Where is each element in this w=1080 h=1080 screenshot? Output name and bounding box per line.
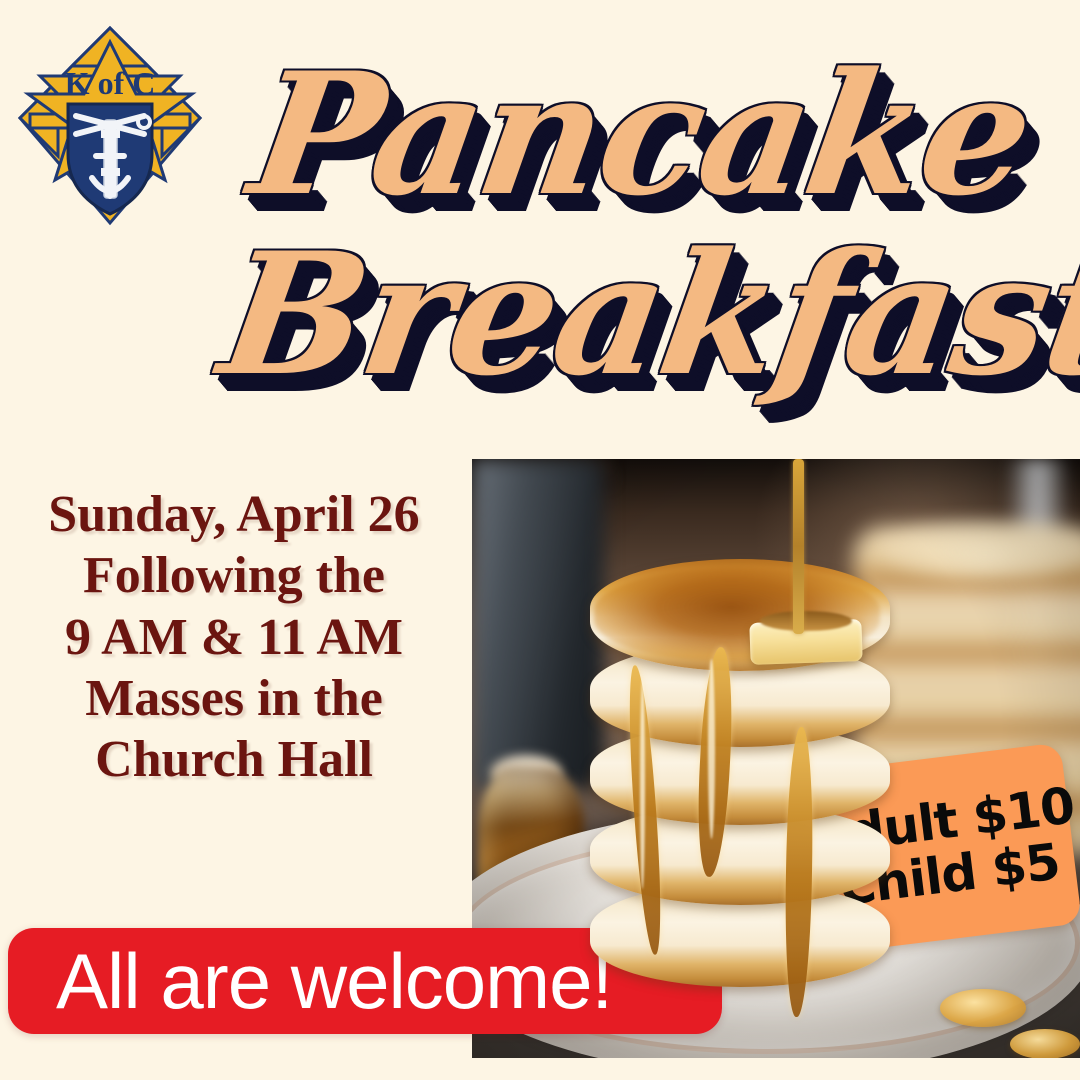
photo-butter-shadow: [760, 611, 852, 631]
photo-syrup-pool-c: [1010, 1029, 1080, 1058]
photo-background-stack-highlight: [880, 519, 1080, 579]
event-detail-line-masses: Masses in the: [8, 668, 460, 729]
title-line-pancake: Pancake: [242, 50, 1042, 218]
pancake-breakfast-poster: K of C Pancake Breakfast Sunday, April 2…: [0, 0, 1080, 1080]
photo-dark-canister: [472, 459, 604, 789]
photo-pancake-stack: [590, 559, 890, 989]
photo-syrup-highlight-b: [640, 679, 645, 889]
title-line-breakfast: Breakfast: [212, 230, 1080, 398]
event-detail-line-location: Church Hall: [8, 729, 460, 790]
logo-text: K of C: [65, 65, 156, 101]
event-detail-line-times: 9 AM & 11 AM: [8, 607, 460, 668]
knights-of-columbus-logo: K of C: [10, 18, 210, 233]
photo-syrup-highlight-a: [708, 659, 715, 839]
photo-syrup-pool-b: [940, 989, 1026, 1027]
event-details-block: Sunday, April 26 Following the 9 AM & 11…: [8, 484, 460, 791]
event-detail-line-following: Following the: [8, 545, 460, 606]
welcome-banner-text: All are welcome!: [8, 942, 612, 1020]
photo-syrup-pour-stream: [793, 459, 804, 634]
poster-title: Pancake Breakfast: [215, 38, 985, 438]
event-detail-line-date: Sunday, April 26: [8, 484, 460, 545]
